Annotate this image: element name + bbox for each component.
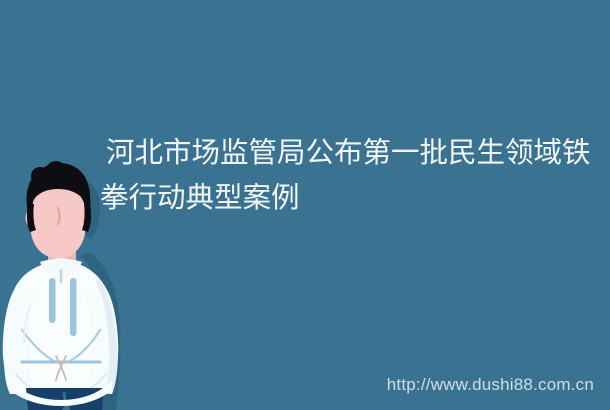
hair-bump-2: [46, 161, 66, 181]
page-title: 河北市场监管局公布第一批民生领域铁拳行动典型案例: [100, 131, 600, 221]
source-url-watermark: http://www.dushi88.com.cn: [387, 375, 594, 395]
drawstring-left: [49, 278, 56, 323]
hair-bump-3: [63, 167, 81, 185]
promo-image-canvas: 河北市场监管局公布第一批民生领域铁拳行动典型案例 http://www.dush…: [0, 0, 610, 410]
drawstring-right: [70, 278, 77, 336]
